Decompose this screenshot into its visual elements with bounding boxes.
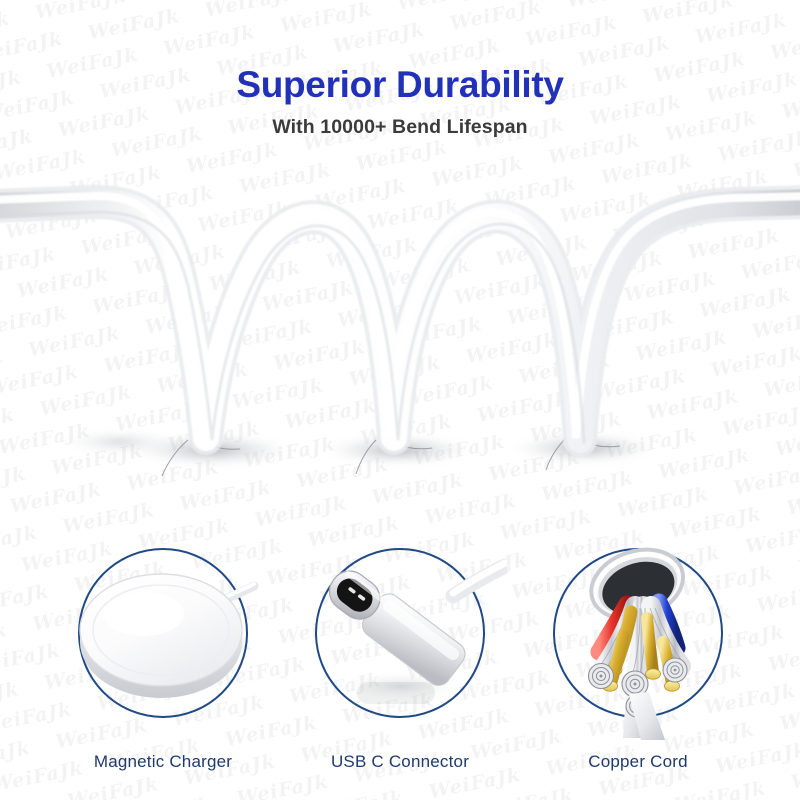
feature-usb-c-connector[interactable]: USB C Connector bbox=[282, 548, 518, 772]
watermark-text: WeiFaJk bbox=[640, 0, 736, 28]
watermark-text: WeiFaJk bbox=[448, 0, 544, 35]
watermark-text: WeiFaJk bbox=[203, 0, 299, 22]
bent-cable-illustration bbox=[0, 150, 800, 530]
header-block: Superior Durability With 10000+ Bend Lif… bbox=[0, 63, 800, 139]
copper-wire-bundle-icon bbox=[531, 526, 745, 740]
page-title: Superior Durability bbox=[0, 63, 800, 107]
copper-cord-circle bbox=[553, 548, 723, 718]
watermark-text: WeiFaJk bbox=[0, 7, 12, 46]
feature-label-usb-c-connector: USB C Connector bbox=[282, 752, 518, 772]
feature-label-copper-cord: Copper Cord bbox=[520, 752, 756, 772]
watermark-row: WeiFaJkWeiFaJkWeiFaJkWeiFaJkWeiFaJkWeiFa… bbox=[0, 0, 800, 50]
product-feature-page: WeiFaJkWeiFaJkWeiFaJkWeiFaJkWeiFaJkWeiFa… bbox=[0, 0, 800, 800]
watermark-text: WeiFaJk bbox=[162, 21, 258, 60]
watermark-text: WeiFaJk bbox=[757, 0, 800, 6]
watermark-text: WeiFaJk bbox=[693, 9, 789, 48]
watermark-text: WeiFaJk bbox=[33, 0, 129, 24]
cable-body bbox=[0, 196, 800, 442]
watermark-text: WeiFaJk bbox=[565, 0, 661, 12]
feature-copper-cord[interactable]: Copper Cord bbox=[520, 548, 756, 772]
feature-row: Magnetic Charger bbox=[0, 548, 800, 798]
magnetic-charger-circle bbox=[78, 548, 248, 718]
usb-c-connector-circle bbox=[315, 548, 485, 718]
watermark-text: WeiFaJk bbox=[86, 5, 182, 44]
feature-label-magnetic-charger: Magnetic Charger bbox=[45, 752, 281, 772]
watermark-text: WeiFaJk bbox=[150, 0, 246, 1]
magnetic-charger-puck-icon bbox=[56, 526, 270, 740]
watermark-text: WeiFaJk bbox=[0, 28, 65, 67]
watermark-row: WeiFaJkWeiFaJkWeiFaJkWeiFaJkWeiFaJkWeiFa… bbox=[0, 0, 800, 20]
watermark-text: WeiFaJk bbox=[524, 12, 620, 51]
watermark-text: WeiFaJk bbox=[0, 0, 53, 8]
feature-magnetic-charger[interactable]: Magnetic Charger bbox=[45, 548, 281, 772]
usb-c-plug-icon bbox=[293, 526, 507, 740]
watermark-text: WeiFaJk bbox=[278, 0, 374, 37]
watermark-text: WeiFaJk bbox=[769, 25, 800, 64]
watermark-text: WeiFaJk bbox=[395, 0, 491, 15]
watermark-text: WeiFaJk bbox=[331, 18, 427, 57]
page-subtitle: With 10000+ Bend Lifespan bbox=[0, 115, 800, 139]
